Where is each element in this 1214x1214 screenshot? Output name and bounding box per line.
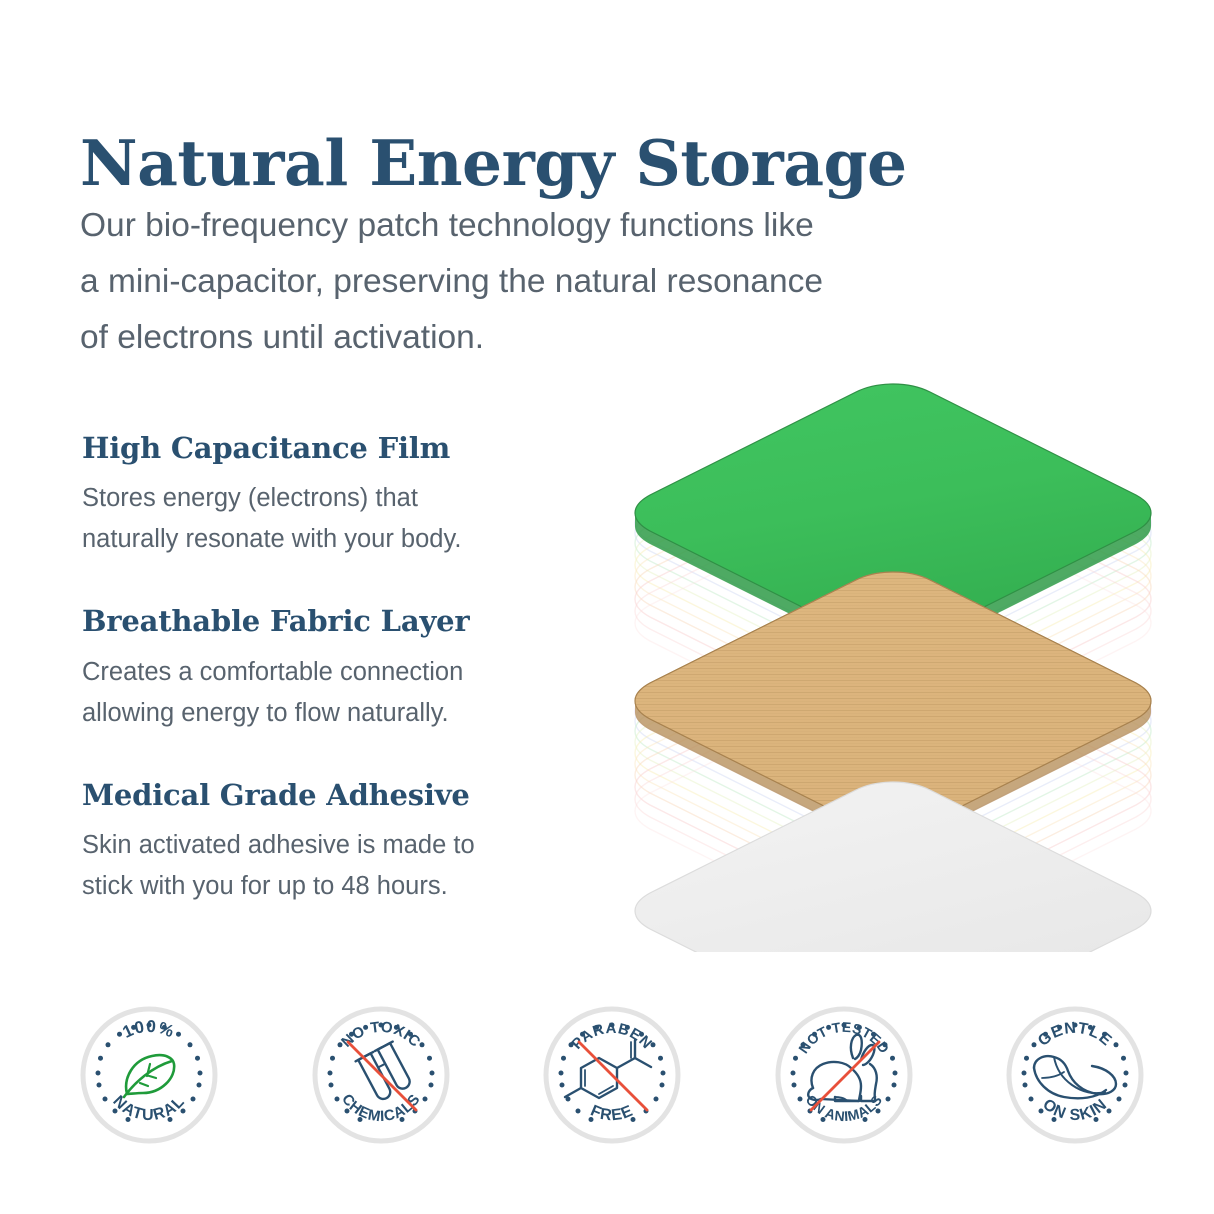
feature-title: Medical Grade Adhesive	[82, 779, 612, 812]
page-title: Natural Energy Storage	[80, 130, 907, 196]
badge-gentle-on-skin: GENTLE ON SKIN	[1006, 1006, 1144, 1144]
feature-description: Creates a comfortable connection allowin…	[82, 652, 612, 734]
feature-description-line: allowing energy to flow naturally.	[82, 693, 612, 734]
exploded-patch-illustration	[608, 372, 1178, 952]
page-subtitle: Our bio-frequency patch technology funct…	[80, 198, 1060, 366]
feature-item-medical-grade-adhesive: Medical Grade Adhesive Skin activated ad…	[82, 779, 612, 907]
badge-100-natural: 100% NATURAL	[80, 1006, 218, 1144]
feature-description-line: Stores energy (electrons) that	[82, 478, 612, 519]
subtitle-line: of electrons until activation.	[80, 310, 1060, 366]
feature-description-line: naturally resonate with your body.	[82, 519, 612, 560]
medical-grade-adhesive-layer	[635, 782, 1151, 952]
feature-title: Breathable Fabric Layer	[82, 605, 612, 638]
feature-description: Stores energy (electrons) that naturally…	[82, 478, 612, 560]
feature-list: High Capacitance Film Stores energy (ele…	[82, 432, 612, 907]
certification-badge-row: 100% NATURAL	[80, 1002, 1144, 1148]
badge-no-toxic-chemicals: NO TOXIC CHEMICALS	[312, 1006, 450, 1144]
badge-paraben-free: PARABEN FREE	[543, 1006, 681, 1144]
feature-description: Skin activated adhesive is made to stick…	[82, 825, 612, 907]
leaf-logo	[1066, 426, 1100, 456]
feature-title: High Capacitance Film	[82, 432, 612, 465]
patch-layers-svg	[608, 372, 1178, 952]
infographic-page: Natural Energy Storage Our bio-frequency…	[0, 0, 1214, 1214]
subtitle-line: Our bio-frequency patch technology funct…	[80, 198, 1060, 254]
subtitle-line: a mini-capacitor, preserving the natural…	[80, 254, 1060, 310]
feature-description-line: Creates a comfortable connection	[82, 652, 612, 693]
feature-item-high-capacitance-film: High Capacitance Film Stores energy (ele…	[82, 432, 612, 560]
badge-not-tested-on-animals: NOT TESTED ON ANIMALS	[775, 1006, 913, 1144]
feature-description-line: stick with you for up to 48 hours.	[82, 866, 612, 907]
feature-description-line: Skin activated adhesive is made to	[82, 825, 612, 866]
feature-item-breathable-fabric-layer: Breathable Fabric Layer Creates a comfor…	[82, 605, 612, 733]
